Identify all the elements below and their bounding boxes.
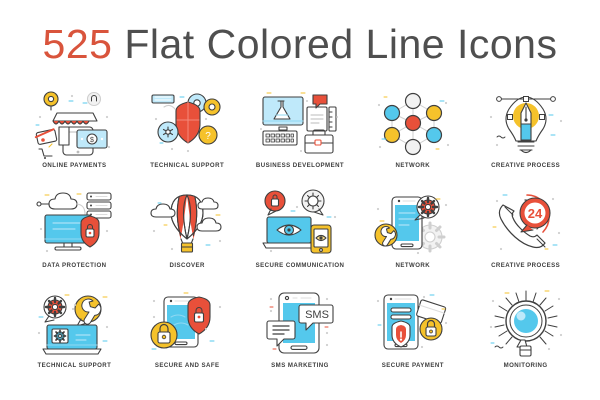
- icon-cell-online-payments[interactable]: $: [18, 86, 131, 186]
- icon-label: Business Development: [256, 162, 344, 169]
- secure-and-safe-icon: [141, 286, 233, 360]
- svg-text:$: $: [90, 137, 94, 144]
- icon-cell-business-development[interactable]: Business Development: [244, 86, 357, 186]
- icon-cell-data-protection[interactable]: Data Protection: [18, 186, 131, 286]
- icon-label: Technical Support: [37, 362, 111, 369]
- page-title: 525 Flat Colored Line Icons: [0, 24, 600, 65]
- icon-cell-network-1[interactable]: Network: [356, 86, 469, 186]
- icon-label: Creative Process: [491, 262, 560, 269]
- icon-label: Online Payments: [42, 162, 106, 169]
- data-protection-icon: [28, 186, 120, 260]
- icon-cell-network-2[interactable]: Network: [356, 186, 469, 286]
- icon-label: Secure Payment: [382, 362, 444, 369]
- icon-label: Technical Support: [150, 162, 224, 169]
- icon-cell-creative-process-2[interactable]: 24 Creative Process: [469, 186, 582, 286]
- icon-label: Monitoring: [504, 362, 548, 369]
- discover-icon: [141, 186, 233, 260]
- business-development-icon: [254, 86, 346, 160]
- laptop-support-icon: [28, 286, 120, 360]
- technical-support-icon: ?: [141, 86, 233, 160]
- icon-cell-creative-process-1[interactable]: Creative Process: [469, 86, 582, 186]
- monitoring-icon: [480, 286, 572, 360]
- icon-cell-secure-communication[interactable]: Secure Communication: [244, 186, 357, 286]
- network-support-icon: [367, 186, 459, 260]
- creative-process-icon: [480, 86, 572, 160]
- icon-cell-discover[interactable]: Discover: [131, 186, 244, 286]
- icon-cell-technical-support-1[interactable]: ? Technical Support: [131, 86, 244, 186]
- icon-label: Network: [395, 162, 430, 169]
- network-icon: [367, 86, 459, 160]
- icon-cell-secure-payment[interactable]: Secure Payment: [356, 286, 469, 386]
- online-payments-icon: $: [28, 86, 120, 160]
- svg-text:?: ?: [205, 131, 211, 142]
- icon-label: Discover: [169, 262, 204, 269]
- support-24-icon: 24: [480, 186, 572, 260]
- title-count: 525: [43, 21, 113, 67]
- icon-label: Creative Process: [491, 162, 560, 169]
- icon-cell-technical-support-2[interactable]: Technical Support: [18, 286, 131, 386]
- icon-cell-monitoring[interactable]: Monitoring: [469, 286, 582, 386]
- icon-cell-secure-and-safe[interactable]: Secure and Safe: [131, 286, 244, 386]
- icon-label: Secure and Safe: [155, 362, 220, 369]
- poster-canvas: 525 Flat Colored Line Icons: [0, 0, 600, 400]
- secure-communication-icon: [254, 186, 346, 260]
- icon-grid: $: [18, 86, 582, 386]
- icon-label: SMS Marketing: [271, 362, 329, 369]
- icon-cell-sms-marketing[interactable]: SMS SMS Marketing: [244, 286, 357, 386]
- title-text: Flat Colored Line Icons: [112, 21, 557, 67]
- icon-label: Secure Communication: [256, 262, 345, 269]
- svg-text:24: 24: [527, 206, 542, 221]
- secure-payment-icon: [367, 286, 459, 360]
- icon-label: Data Protection: [42, 262, 106, 269]
- icon-label: Network: [395, 262, 430, 269]
- sms-marketing-icon: SMS: [254, 286, 346, 360]
- svg-text:SMS: SMS: [305, 309, 329, 321]
